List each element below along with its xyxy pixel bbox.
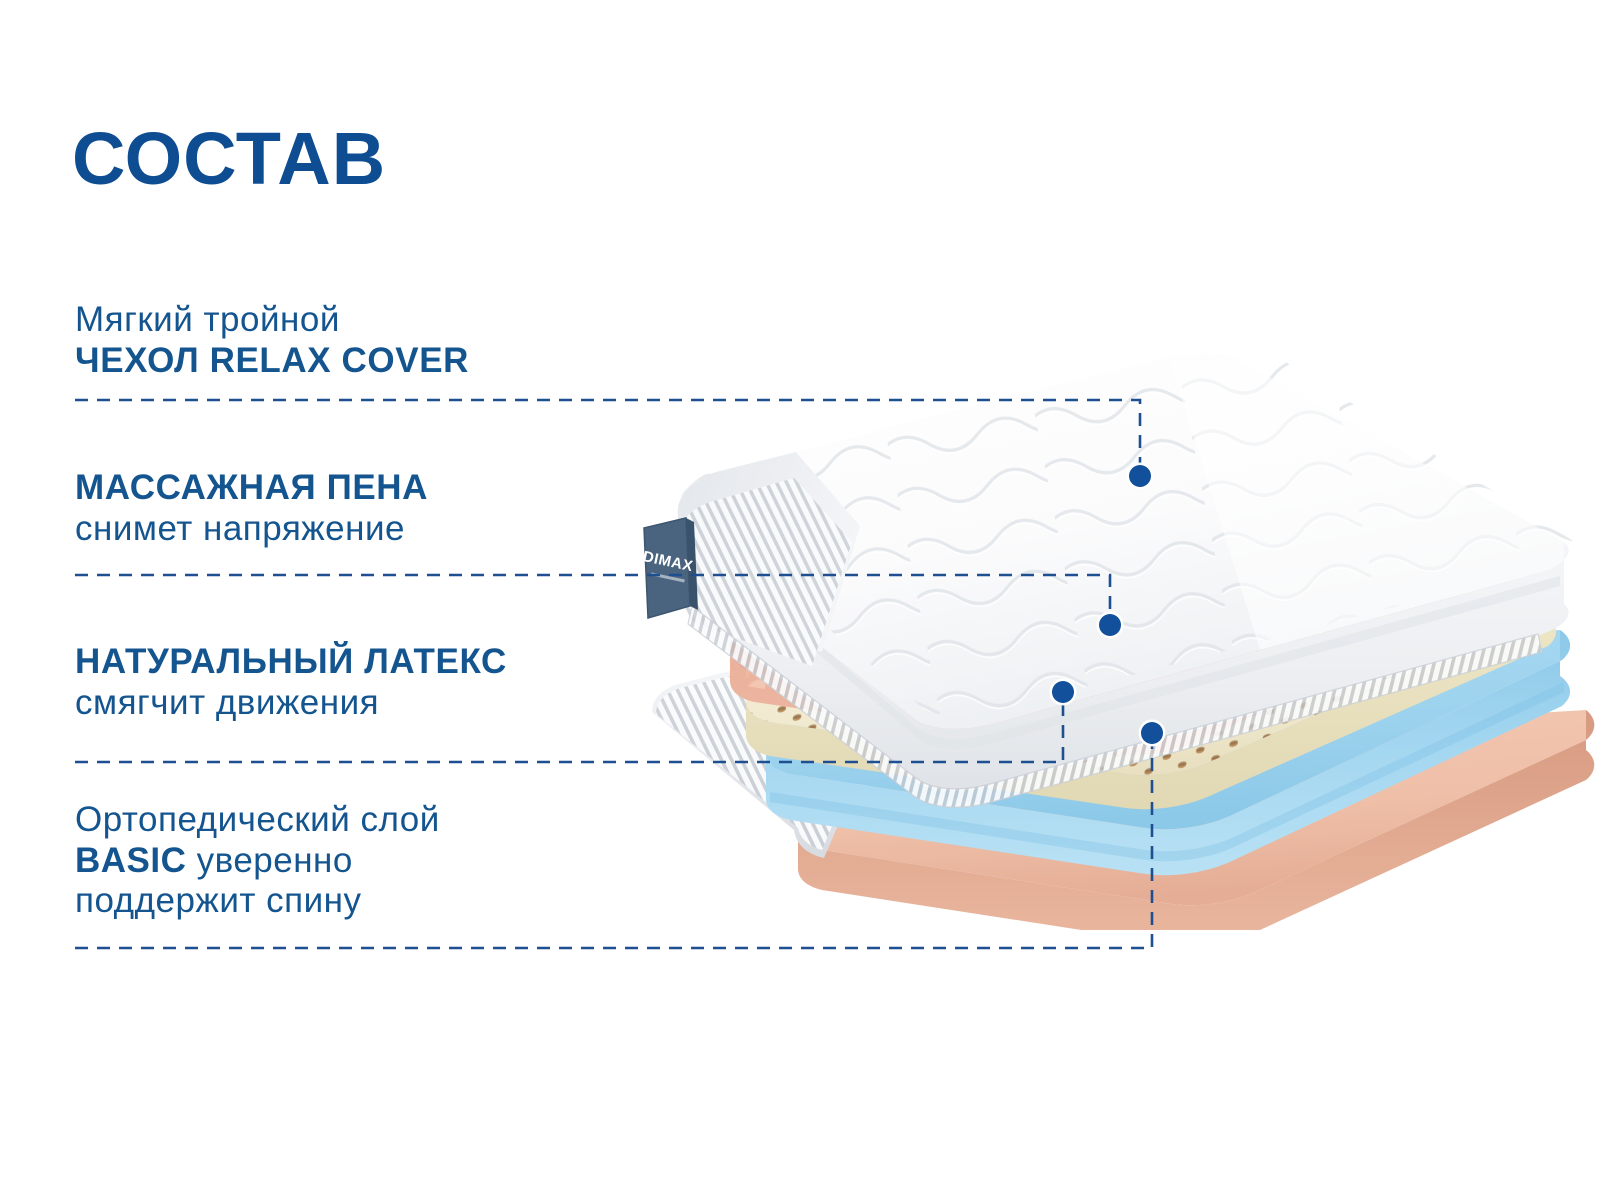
callout-1-line-2: ЧЕХОЛ RELAX COVER <box>75 341 469 382</box>
hotspot-dot-massage-foam[interactable] <box>1099 614 1121 636</box>
callout-4-line-1: Ортопедический слой <box>75 800 440 841</box>
callout-4-line-3: поддержит спину <box>75 881 440 922</box>
infographic-page: СОСТАВ <box>0 0 1600 1200</box>
brand-tag: DIMAX <box>641 518 698 618</box>
callout-basic-orthopedic: Ортопедический слой BASIC уверенно подде… <box>75 800 440 922</box>
callout-massage-foam: МАССАЖНАЯ ПЕНА снимет напряжение <box>75 468 428 549</box>
callout-relax-cover: Мягкий тройной ЧЕХОЛ RELAX COVER <box>75 300 469 381</box>
callout-4-line-2: BASIC уверенно <box>75 841 440 882</box>
callout-1-line-1: Мягкий тройной <box>75 300 469 341</box>
callout-4-brand: BASIC <box>75 841 186 880</box>
callout-3-line-1: НАТУРАЛЬНЫЙ ЛАТЕКС <box>75 642 507 683</box>
callout-2-line-1: МАССАЖНАЯ ПЕНА <box>75 468 428 509</box>
callout-2-line-2: снимет напряжение <box>75 509 428 550</box>
hotspot-dot-cover[interactable] <box>1129 465 1151 487</box>
callout-natural-latex: НАТУРАЛЬНЫЙ ЛАТЕКС смягчит движения <box>75 642 507 723</box>
hotspot-dot-basic[interactable] <box>1141 722 1163 744</box>
callout-4-line-2-rest: уверенно <box>186 841 352 880</box>
page-title: СОСТАВ <box>72 122 386 196</box>
hotspot-dot-latex[interactable] <box>1052 681 1074 703</box>
mattress-illustration: DIMAX <box>560 330 1600 930</box>
callout-3-line-2: смягчит движения <box>75 683 507 724</box>
